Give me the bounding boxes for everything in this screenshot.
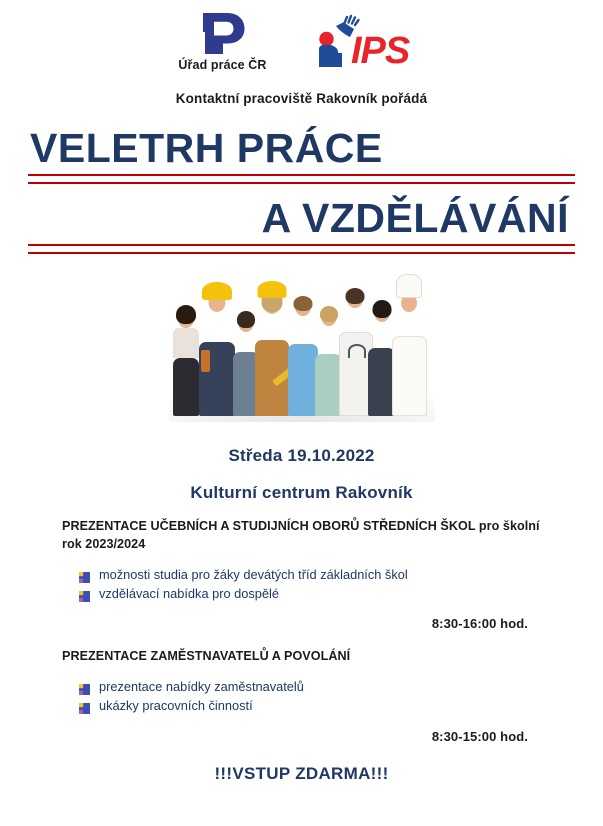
section-schools: PREZENTACE UČEBNÍCH A STUDIJNÍCH OBORŮ S… bbox=[62, 518, 546, 631]
ips-emblem-icon: IPS bbox=[311, 13, 437, 75]
list-item: vzdělávací nabídka pro dospělé bbox=[79, 584, 546, 603]
logo-row: Úřad práce ČR IPS bbox=[0, 8, 603, 86]
section-employers: PREZENTACE ZAMĚSTNAVATELŮ A POVOLÁNÍ pre… bbox=[62, 648, 546, 744]
organizer-line: Kontaktní pracoviště Rakovník pořádá bbox=[0, 91, 603, 106]
person-5-nurse bbox=[288, 276, 318, 416]
urad-prace-emblem-icon bbox=[197, 10, 249, 56]
headline-block-1: VELETRH PRÁCE bbox=[0, 126, 603, 184]
professionals-photo bbox=[169, 262, 435, 422]
urad-prace-cr-logo: Úřad práce ČR bbox=[164, 8, 282, 72]
urad-prace-label: Úřad práce ČR bbox=[178, 58, 266, 72]
person-4-overalls bbox=[255, 274, 289, 416]
professionals-photo-image bbox=[169, 262, 435, 422]
svg-text:IPS: IPS bbox=[351, 30, 410, 72]
cross-bullet-icon bbox=[79, 569, 90, 580]
cross-bullet-icon bbox=[79, 681, 90, 692]
person-8 bbox=[368, 284, 395, 416]
person-2-construction-worker bbox=[199, 270, 235, 416]
headline-block-2: A VZDĚLÁVÁNÍ bbox=[0, 196, 603, 254]
section-employers-bullet-list: prezentace nabídky zaměstnavatelů ukázky… bbox=[62, 677, 546, 716]
list-item: možnosti studia pro žáky devátých tříd z… bbox=[79, 565, 546, 584]
section-schools-heading: PREZENTACE UČEBNÍCH A STUDIJNÍCH OBORŮ S… bbox=[62, 518, 546, 554]
cross-bullet-icon bbox=[79, 700, 90, 711]
list-item: prezentace nabídky zaměstnavatelů bbox=[79, 677, 546, 696]
title-rule-2 bbox=[28, 244, 575, 254]
person-7-doctor bbox=[339, 270, 371, 416]
list-item: ukázky pracovních činností bbox=[79, 696, 546, 715]
title-rule-1 bbox=[28, 174, 575, 184]
free-entry-notice: !!!VSTUP ZDARMA!!! bbox=[0, 764, 603, 784]
ips-logo: IPS bbox=[308, 8, 440, 78]
list-item-label: možnosti studia pro žáky devátých tříd z… bbox=[99, 567, 408, 582]
section-employers-heading: PREZENTACE ZAMĚSTNAVATELŮ A POVOLÁNÍ bbox=[62, 648, 546, 666]
poster-title-line1: VELETRH PRÁCE bbox=[0, 126, 603, 170]
cross-bullet-icon bbox=[79, 588, 90, 599]
person-1 bbox=[173, 288, 199, 416]
event-venue: Kulturní centrum Rakovník bbox=[0, 483, 603, 503]
section-schools-time: 8:30-16:00 hod. bbox=[62, 616, 546, 631]
poster-canvas: Úřad práce ČR IPS Kontaktní pracoviště R… bbox=[0, 0, 603, 826]
list-item-label: ukázky pracovních činností bbox=[99, 698, 253, 713]
list-item-label: prezentace nabídky zaměstnavatelů bbox=[99, 679, 304, 694]
event-info: Středa 19.10.2022 Kulturní centrum Rakov… bbox=[0, 446, 603, 503]
section-schools-bullet-list: možnosti studia pro žáky devátých tříd z… bbox=[62, 565, 546, 604]
event-date: Středa 19.10.2022 bbox=[0, 446, 603, 466]
section-employers-heading-caps: PREZENTACE ZAMĚSTNAVATELŮ A POVOLÁNÍ bbox=[62, 649, 350, 663]
person-9-chef bbox=[392, 266, 425, 416]
section-employers-time: 8:30-15:00 hod. bbox=[62, 729, 546, 744]
list-item-label: vzdělávací nabídka pro dospělé bbox=[99, 586, 279, 601]
poster-title-line2: A VZDĚLÁVÁNÍ bbox=[0, 196, 603, 240]
section-schools-heading-caps: PREZENTACE UČEBNÍCH A STUDIJNÍCH OBORŮ S… bbox=[62, 519, 479, 533]
person-6 bbox=[315, 288, 342, 416]
